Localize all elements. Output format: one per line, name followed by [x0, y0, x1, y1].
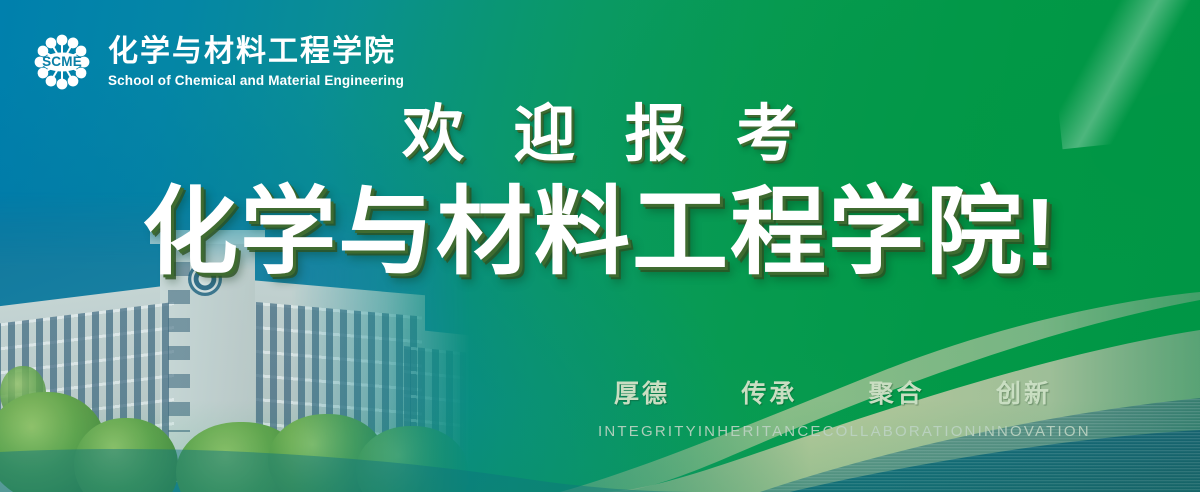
- college-heading: 化学与材料工程学院!: [0, 181, 1200, 285]
- motto-en-3: COLLABORATION: [823, 423, 978, 440]
- motto-en-1: INTEGRITY: [598, 423, 698, 440]
- logo-text-block: 化学与材料工程学院 School of Chemical and Materia…: [108, 37, 404, 88]
- motto-english-row: INTEGRITY INHERITANCE COLLABORATION INNO…: [596, 423, 1066, 440]
- motto-block: 厚德 传承 聚合 创新 INTEGRITY INHERITANCE COLLAB…: [596, 374, 1066, 440]
- headline-block: 欢 迎 报 考 化学与材料工程学院!: [0, 100, 1200, 285]
- building-windows-tower: [168, 262, 190, 432]
- motto-en-2: INHERITANCE: [698, 423, 823, 440]
- motto-cn-2: 传承: [741, 374, 797, 410]
- admissions-banner: SCME 化学与材料工程学院 School of Chemical and Ma…: [0, 0, 1200, 492]
- motto-en-4: INNOVATION: [978, 423, 1091, 440]
- motto-cn-3: 聚合: [869, 374, 925, 410]
- scme-molecule-emblem-icon: SCME: [30, 30, 94, 94]
- motto-chinese-row: 厚德 传承 聚合 创新: [596, 374, 1066, 410]
- logo-title-en: School of Chemical and Material Engineer…: [108, 74, 404, 88]
- school-logo-lockup[interactable]: SCME 化学与材料工程学院 School of Chemical and Ma…: [30, 30, 404, 94]
- motto-cn-4: 创新: [996, 374, 1052, 410]
- motto-cn-1: 厚德: [614, 374, 670, 410]
- logo-monogram: SCME: [42, 54, 82, 69]
- welcome-heading: 欢 迎 报 考: [0, 100, 1200, 169]
- logo-title-cn: 化学与材料工程学院: [108, 37, 404, 67]
